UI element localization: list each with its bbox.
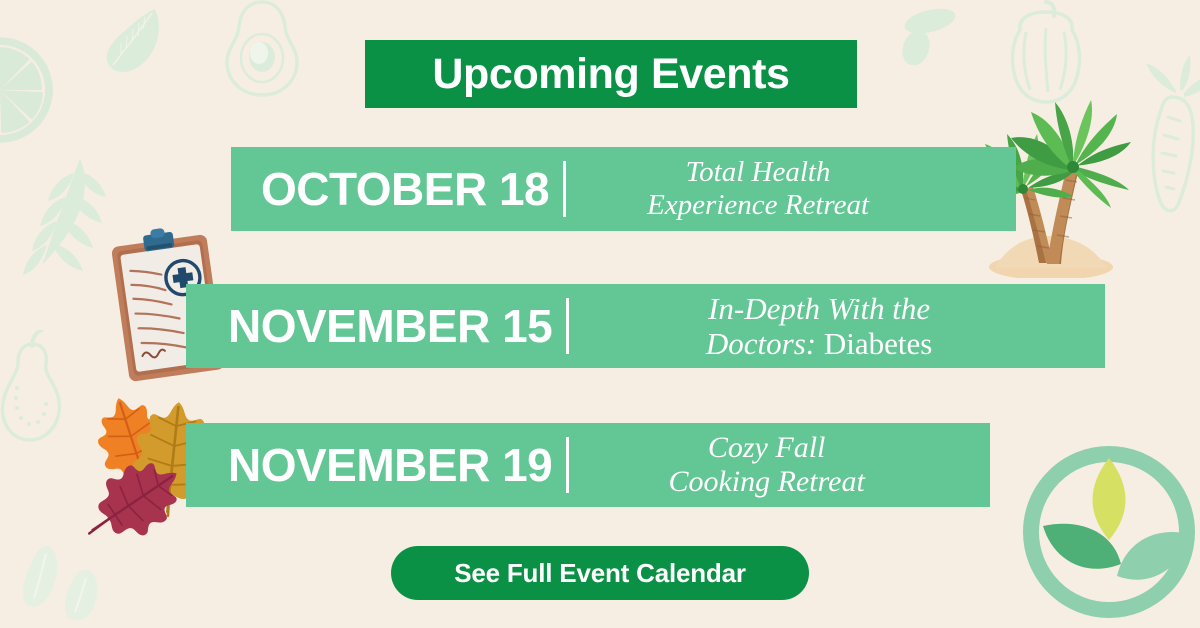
event-date: NOVEMBER 15 — [186, 303, 552, 349]
events-content: Upcoming Events OCTOBER 18 Total Health … — [0, 0, 1200, 628]
page-title-banner: Upcoming Events — [365, 40, 857, 108]
event-row[interactable]: NOVEMBER 19 Cozy Fall Cooking Retreat — [186, 423, 990, 507]
event-date: NOVEMBER 19 — [186, 442, 552, 488]
event-title: Total Health Experience Retreat — [566, 156, 1016, 222]
event-title-line-1: Cozy Fall — [708, 431, 826, 464]
event-row[interactable]: OCTOBER 18 Total Health Experience Retre… — [231, 147, 1016, 231]
event-title-line-1: Total Health — [686, 156, 831, 188]
see-full-event-calendar-button[interactable]: See Full Event Calendar — [391, 546, 809, 600]
event-title: In-Depth With the Doctors: Diabetes — [569, 291, 1105, 361]
event-title-line-2-roman: Diabetes — [824, 326, 932, 361]
event-title-line-2: Doctors: — [706, 326, 816, 361]
event-title-line-1: In-Depth With the — [708, 291, 930, 326]
event-title-line-2: Experience Retreat — [647, 189, 869, 221]
event-announcement-graphic: Upcoming Events OCTOBER 18 Total Health … — [0, 0, 1200, 628]
event-date: OCTOBER 18 — [231, 166, 549, 212]
event-title: Cozy Fall Cooking Retreat — [569, 431, 990, 499]
page-title: Upcoming Events — [432, 53, 789, 96]
event-title-line-2: Cooking Retreat — [668, 465, 864, 498]
event-row[interactable]: NOVEMBER 15 In-Depth With the Doctors: D… — [186, 284, 1105, 368]
